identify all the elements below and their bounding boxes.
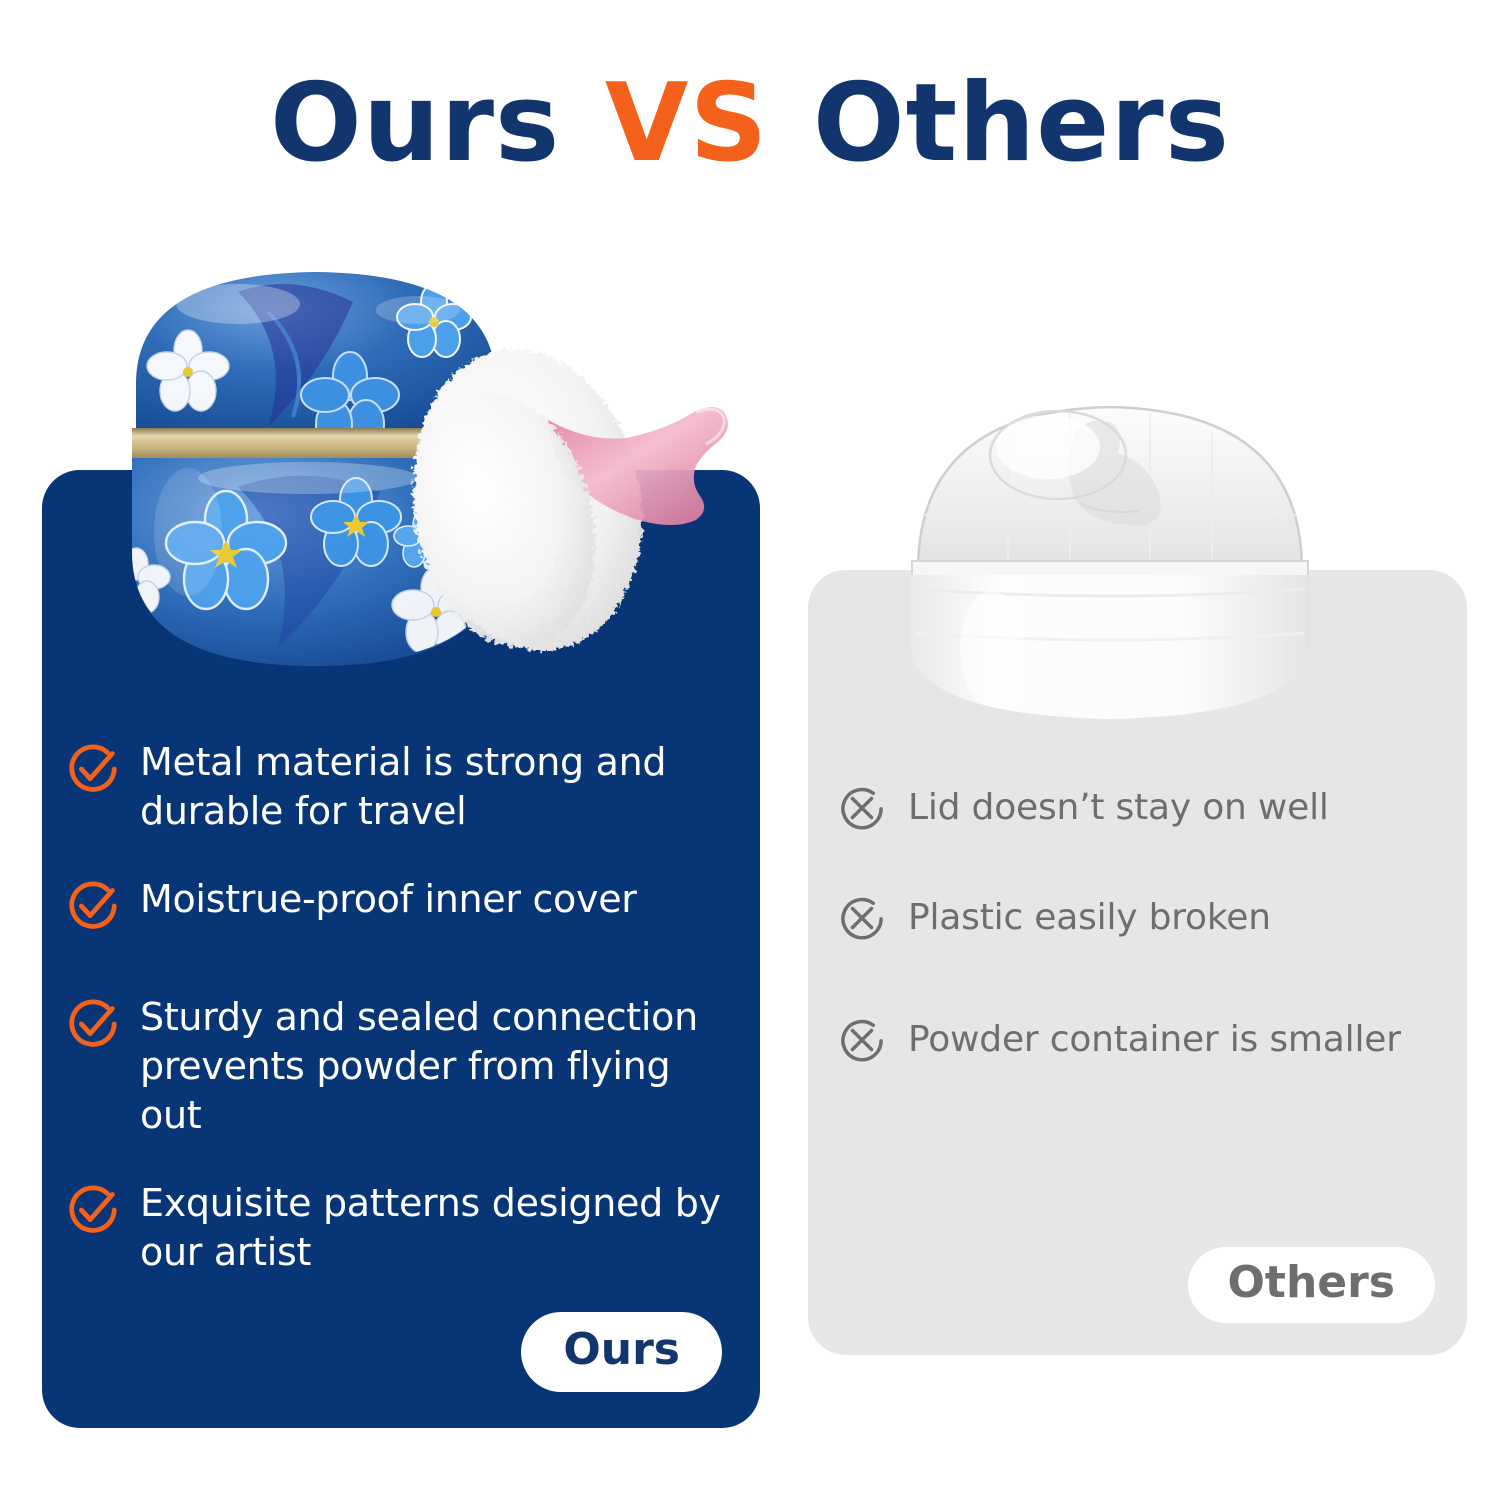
- x-circle-icon: [836, 782, 888, 834]
- title-others: Others: [813, 61, 1230, 186]
- list-item: Moistrue-proof inner cover: [64, 875, 736, 935]
- list-item-label: Metal material is strong and durable for…: [140, 738, 736, 835]
- list-item: Metal material is strong and durable for…: [64, 738, 736, 835]
- list-item: Plastic easily broken: [836, 892, 1447, 944]
- check-circle-icon: [64, 740, 122, 798]
- list-item-label: Lid doesn’t stay on well: [908, 785, 1329, 831]
- list-item: Exquisite patterns designed by our artis…: [64, 1179, 736, 1276]
- others-badge: Others: [1188, 1247, 1436, 1323]
- others-feature-list: Lid doesn’t stay on well Plastic easily …: [808, 782, 1467, 1066]
- check-circle-icon: [64, 995, 122, 1053]
- page-title: Ours VS Others: [0, 62, 1500, 186]
- title-ours: Ours: [270, 61, 560, 186]
- check-circle-icon: [64, 877, 122, 935]
- ours-badge: Ours: [521, 1312, 722, 1392]
- list-item-label: Plastic easily broken: [908, 895, 1271, 941]
- check-circle-icon: [64, 1181, 122, 1239]
- list-item: Lid doesn’t stay on well: [836, 782, 1447, 834]
- list-item-label: Moistrue-proof inner cover: [140, 875, 637, 924]
- x-circle-icon: [836, 892, 888, 944]
- title-vs: VS: [599, 61, 774, 186]
- x-circle-icon: [836, 1014, 888, 1066]
- list-item-label: Sturdy and sealed connection prevents po…: [140, 993, 736, 1139]
- ours-product-image: [118, 252, 738, 682]
- list-item: Sturdy and sealed connection prevents po…: [64, 993, 736, 1139]
- list-item-label: Powder container is smaller: [908, 1017, 1401, 1063]
- ours-feature-list: Metal material is strong and durable for…: [42, 738, 760, 1276]
- list-item-label: Exquisite patterns designed by our artis…: [140, 1179, 736, 1276]
- list-item: Powder container is smaller: [836, 1014, 1447, 1066]
- others-product-image: [880, 375, 1340, 740]
